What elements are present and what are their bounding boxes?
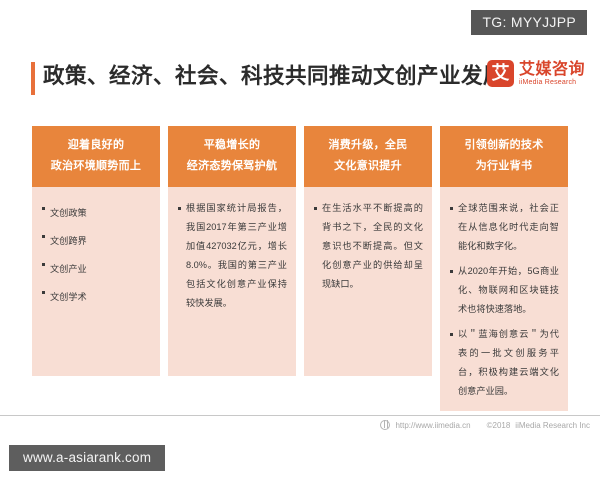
- list-item: 文创学术: [41, 283, 151, 311]
- card-society-header-line1: 消费升级，全民: [308, 135, 428, 156]
- logo-name-cn: 艾媒咨询: [519, 61, 585, 78]
- card-society-header: 消费升级，全民 文化意识提升: [304, 126, 432, 187]
- card-policy-header-line2: 政治环境顺势而上: [36, 156, 156, 177]
- site-watermark: www.a-asiarank.com: [9, 445, 165, 472]
- slide-canvas: TG: MYYJJPP 政策、经济、社会、科技共同推动文创产业发展 艾 艾媒咨询…: [0, 0, 600, 480]
- footer-company: iiMedia Research Inc: [515, 421, 590, 430]
- card-policy: 迎着良好的 政治环境顺势而上 文创政策 文创跨界 文创产业 文创学术: [32, 126, 160, 376]
- card-economy-header-line2: 经济态势保驾护航: [172, 156, 292, 177]
- logo-name-en: iiMedia Research: [519, 78, 585, 87]
- card-technology-header-line2: 为行业背书: [444, 156, 564, 177]
- footer: http://www.iimedia.cn ©2018 iiMedia Rese…: [380, 420, 590, 430]
- card-technology: 引领创新的技术 为行业背书 全球范围来说，社会正在从信息化时代走向智能化和数字化…: [440, 126, 568, 376]
- footer-divider: [0, 415, 600, 416]
- list-item: 全球范围来说，社会正在从信息化时代走向智能化和数字化。: [449, 199, 559, 256]
- card-policy-body: 文创政策 文创跨界 文创产业 文创学术: [32, 187, 160, 376]
- card-economy-header: 平稳增长的 经济态势保驾护航: [168, 126, 296, 187]
- page-title: 政策、经济、社会、科技共同推动文创产业发展: [43, 59, 505, 90]
- logo-mark-icon: 艾: [487, 60, 514, 87]
- cards-row: 迎着良好的 政治环境顺势而上 文创政策 文创跨界 文创产业 文创学术 平稳增长的…: [32, 126, 569, 376]
- list-item: 文创政策: [41, 199, 151, 227]
- card-technology-header-line1: 引领创新的技术: [444, 135, 564, 156]
- globe-icon: [380, 420, 390, 430]
- title-accent-bar: [31, 62, 35, 95]
- card-economy-body: 根据国家统计局报告，我国2017年第三产业增加值427032亿元，增长8.0%。…: [168, 187, 296, 376]
- list-item: 在生活水平不断提高的背书之下，全民的文化意识也不断提高。但文化创意产业的供给却呈…: [313, 199, 423, 294]
- card-technology-body: 全球范围来说，社会正在从信息化时代走向智能化和数字化。 从2020年开始，5G商…: [440, 187, 568, 411]
- footer-url: http://www.iimedia.cn: [395, 421, 470, 430]
- list-item: 文创跨界: [41, 227, 151, 255]
- tg-watermark-badge: TG: MYYJJPP: [471, 10, 587, 35]
- iimedia-logo: 艾 艾媒咨询 iiMedia Research: [487, 60, 585, 87]
- card-society-header-line2: 文化意识提升: [308, 156, 428, 177]
- card-economy: 平稳增长的 经济态势保驾护航 根据国家统计局报告，我国2017年第三产业增加值4…: [168, 126, 296, 376]
- card-policy-header-line1: 迎着良好的: [36, 135, 156, 156]
- list-item: 根据国家统计局报告，我国2017年第三产业增加值427032亿元，增长8.0%。…: [177, 199, 287, 313]
- card-society: 消费升级，全民 文化意识提升 在生活水平不断提高的背书之下，全民的文化意识也不断…: [304, 126, 432, 376]
- list-item: 文创产业: [41, 255, 151, 283]
- card-economy-header-line1: 平稳增长的: [172, 135, 292, 156]
- card-policy-header: 迎着良好的 政治环境顺势而上: [32, 126, 160, 187]
- card-society-body: 在生活水平不断提高的背书之下，全民的文化意识也不断提高。但文化创意产业的供给却呈…: [304, 187, 432, 376]
- list-item: 从2020年开始，5G商业化、物联网和区块链技术也将快速落地。: [449, 262, 559, 319]
- card-technology-header: 引领创新的技术 为行业背书: [440, 126, 568, 187]
- footer-copyright: ©2018: [487, 421, 511, 430]
- logo-wordmark: 艾媒咨询 iiMedia Research: [519, 61, 585, 87]
- list-item: 以＂蓝海创意云＂为代表的一批文创服务平台，积极构建云端文化创意产业园。: [449, 325, 559, 401]
